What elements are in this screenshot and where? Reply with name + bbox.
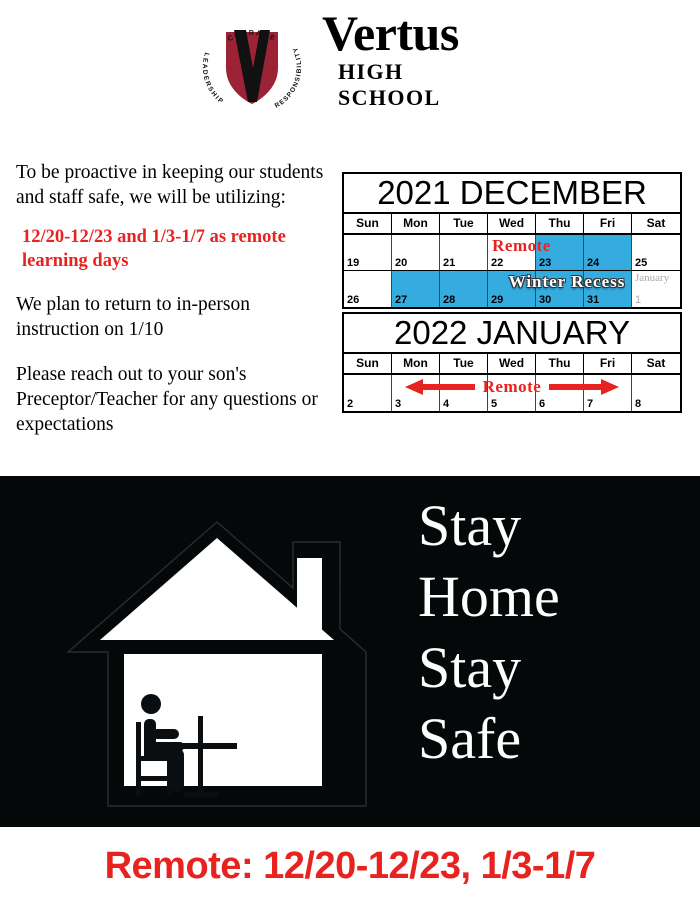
calendar-january-title: 2022 JANUARY [344,314,680,354]
day-number: 27 [395,294,407,306]
slogan-line-1: Stay [418,490,678,561]
day-cell[interactable]: 28 [440,271,488,307]
calendar-december-week-2: 26 27 28 29 30 31 January 1 Winter Reces… [344,271,680,307]
weekday-sat: Sat [632,214,680,235]
day-number: 26 [347,294,359,306]
bottom-banner-text: Remote: 12/20-12/23, 1/3-1/7 [105,845,596,888]
day-cell[interactable]: 19 [344,235,392,271]
announcement-text-column: To be proactive in keeping our students … [16,140,326,452]
slogan-line-2: Home [418,561,678,632]
slogan-line-4: Safe [418,703,678,774]
paragraph-return: We plan to return to in-person instructi… [16,292,326,342]
wordmark: Vertus HIGH SCHOOL [322,9,496,115]
day-number: 4 [443,398,449,410]
day-cell[interactable]: 23 [536,235,584,271]
hero-section: Stay Home Stay Safe [0,476,700,827]
calendar-december-week-1: 19 20 21 22 23 24 25 Remote [344,235,680,271]
day-cell[interactable]: 31 [584,271,632,307]
day-cell[interactable]: 3 [392,375,440,411]
school-logo: COURAGE LEADERSHIP RESPONSIBILITY Vertus… [196,10,496,114]
weekday-sat: Sat [632,354,680,375]
calendar-january-weekday-header: Sun Mon Tue Wed Thu Fri Sat [344,354,680,375]
weekday-tue: Tue [440,214,488,235]
calendar-december: 2021 DECEMBER Sun Mon Tue Wed Thu Fri Sa… [342,172,682,309]
day-number: 21 [443,257,455,269]
day-number: 28 [443,294,455,306]
day-cell[interactable]: 27 [392,271,440,307]
day-cell[interactable]: 26 [344,271,392,307]
weekday-wed: Wed [488,354,536,375]
motto-leadership: LEADERSHIP [201,52,225,106]
weekday-fri: Fri [584,354,632,375]
weekday-mon: Mon [392,354,440,375]
day-cell[interactable]: 20 [392,235,440,271]
day-cell-next-month[interactable]: January 1 [632,271,680,307]
paragraph-contact: Please reach out to your son's Preceptor… [16,362,326,437]
weekday-sun: Sun [344,214,392,235]
weekday-sun: Sun [344,354,392,375]
day-number: 23 [539,257,551,269]
day-cell[interactable]: 7 [584,375,632,411]
day-number: 19 [347,257,359,269]
house-with-student-at-desk-icon [12,494,412,809]
weekday-thu: Thu [536,214,584,235]
motto-responsibility: RESPONSIBILITY [274,45,304,109]
day-number: 7 [587,398,593,410]
day-cell[interactable]: 2 [344,375,392,411]
day-number: 6 [539,398,545,410]
day-cell[interactable]: 24 [584,235,632,271]
calendar-december-weekday-header: Sun Mon Tue Wed Thu Fri Sat [344,214,680,235]
weekday-thu: Thu [536,354,584,375]
day-number: 8 [635,398,641,410]
day-cell[interactable]: 25 [632,235,680,271]
day-cell[interactable]: 5 [488,375,536,411]
day-cell[interactable]: 29 [488,271,536,307]
bottom-banner: Remote: 12/20-12/23, 1/3-1/7 [0,827,700,906]
day-number: 3 [395,398,401,410]
shield-svg: COURAGE LEADERSHIP RESPONSIBILITY [196,10,308,114]
day-cell[interactable]: 8 [632,375,680,411]
calendar-january-week-1: 2 3 4 5 6 7 8 Remote [344,375,680,411]
day-number: 30 [539,294,551,306]
wordmark-main: Vertus [322,9,496,57]
day-cell[interactable]: 21 [440,235,488,271]
day-number: 1 [635,294,641,306]
day-number: 5 [491,398,497,410]
day-cell[interactable]: 30 [536,271,584,307]
day-number: 2 [347,398,353,410]
weekday-fri: Fri [584,214,632,235]
calendar-january: 2022 JANUARY Sun Mon Tue Wed Thu Fri Sat… [342,312,682,413]
weekday-mon: Mon [392,214,440,235]
day-number: 24 [587,257,599,269]
day-number: 20 [395,257,407,269]
day-cell[interactable]: 22 [488,235,536,271]
paragraph-intro: To be proactive in keeping our students … [16,160,326,210]
next-month-tag: January [635,272,669,284]
slogan-line-3: Stay [418,632,678,703]
day-number: 29 [491,294,503,306]
weekday-tue: Tue [440,354,488,375]
wordmark-subtitle: HIGH SCHOOL [338,59,496,111]
day-cell[interactable]: 6 [536,375,584,411]
vertus-shield-icon: COURAGE LEADERSHIP RESPONSIBILITY [196,10,308,114]
weekday-wed: Wed [488,214,536,235]
page-header: COURAGE LEADERSHIP RESPONSIBILITY Vertus… [0,0,700,122]
paragraph-remote-dates: 12/20-12/23 and 1/3-1/7 as remote learni… [22,225,326,273]
calendar-december-title: 2021 DECEMBER [344,174,680,214]
day-cell[interactable]: 4 [440,375,488,411]
slogan-block: Stay Home Stay Safe [418,490,678,774]
day-number: 22 [491,257,503,269]
day-number: 25 [635,257,647,269]
day-number: 31 [587,294,599,306]
